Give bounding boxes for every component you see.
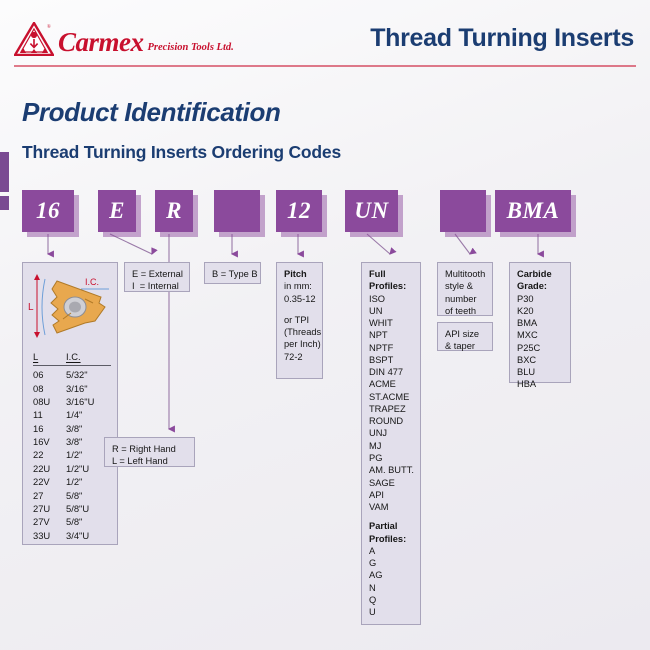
full-profile-item: VAM [369,501,414,513]
size-cell-ic: 5/8" [66,515,82,528]
size-cell-l: 16V [33,435,66,448]
carbide-grade-box: Carbide Grade: P30K20BMAMXCP25CBXCBLUHBA [509,262,571,383]
full-profiles-list: ISOUNWHITNPTNPTFBSPTDIN 477ACMEST.ACMETR… [369,293,414,514]
partial-profile-item: G [369,557,414,569]
code-box-profile[interactable]: UN [345,190,398,232]
carbide-grade-item: HBA [517,378,564,390]
size-cell-l: 08 [33,382,66,395]
carbide-grade-item: MXC [517,329,564,341]
size-cell-l: 06 [33,368,66,381]
hand-line-left: L = Left Hand [112,455,188,467]
section-title: Product Identification [22,97,280,128]
size-cell-ic: 1/2"U [66,462,89,475]
size-table: L I.C. 065/32"083/16"08U3/16"U111/4"163/… [23,351,117,542]
grade-title-1: Carbide [517,269,552,279]
partial-profile-item: Q [369,594,414,606]
size-cell-l: 16 [33,422,66,435]
size-col-ic: I.C. [66,351,81,363]
full-profile-item: AM. BUTT. [369,464,414,476]
api-line-2: & taper [445,340,486,352]
carmex-triangle-logo-icon: ® [14,22,54,56]
page-root: ® Carmex Precision Tools Ltd. Thread Tur… [0,0,650,650]
code-box-size[interactable]: 16 [22,190,74,232]
partial-profiles-title-2: Profiles: [369,534,406,544]
size-table-row: 33U3/4"U [33,529,117,542]
svg-text:®: ® [47,24,51,30]
partial-profile-item: N [369,582,414,594]
size-cell-ic: 1/2" [66,475,82,488]
hand-direction-box: R = Right Hand L = Left Hand [104,437,195,467]
full-profile-item: SAGE [369,477,414,489]
size-table-rule [33,365,111,366]
size-cell-ic: 1/4" [66,408,82,421]
size-table-row: 27U5/8"U [33,502,117,515]
size-col-l: L [33,351,66,363]
full-profile-item: PG [369,452,414,464]
full-profile-item: BSPT [369,354,414,366]
size-cell-ic: 3/8" [66,435,82,448]
size-table-row: 275/8" [33,489,117,502]
api-size-box: API size & taper [437,322,493,351]
grade-title-2: Grade: [517,281,547,291]
partial-profile-item: U [369,606,414,618]
page-title: Thread Turning Inserts [370,24,634,53]
partial-profiles-list: AGAGNQU [369,545,414,619]
size-cell-ic: 5/32" [66,368,88,381]
ei-line-internal: I = Internal [132,280,183,292]
size-cell-ic: 5/8"U [66,502,89,515]
carbide-grade-item: BXC [517,354,564,366]
partial-profile-item: AG [369,569,414,581]
size-cell-ic: 3/8" [66,422,82,435]
api-line-1: API size [445,328,486,340]
code-box-grade[interactable]: BMA [495,190,571,232]
page-header: ® Carmex Precision Tools Ltd. Thread Tur… [0,0,650,72]
carbide-grade-item: BLU [517,366,564,378]
size-cell-ic: 3/16"U [66,395,94,408]
size-table-row: 08U3/16"U [33,395,117,408]
thread-profiles-box: Full Profiles: ISOUNWHITNPTNPTFBSPTDIN 4… [361,262,421,625]
carbide-grade-item: K20 [517,305,564,317]
size-cell-l: 11 [33,408,66,421]
full-profile-item: ROUND [369,415,414,427]
pitch-tpi-note1: (Threads [284,326,316,338]
insert-size-box: L I.C. L I.C. 065/32"083/16"08U3/16"U111… [22,262,118,545]
insert-illustration: L I.C. [23,263,119,351]
size-table-row: 22V1/2" [33,475,117,488]
pitch-spacer [284,305,316,314]
size-cell-ic: 5/8" [66,489,82,502]
carbide-grade-item: P25C [517,342,564,354]
insert-type-box: B = Type B [204,262,261,284]
code-box-hand[interactable]: R [155,190,193,232]
size-table-row: 163/8" [33,422,117,435]
full-profile-item: UNJ [369,427,414,439]
size-table-header: L I.C. [33,351,117,364]
size-cell-l: 27U [33,502,66,515]
full-profile-item: DIN 477 [369,366,414,378]
code-box-direction[interactable]: E [98,190,136,232]
pitch-tpi-label: or TPI [284,314,316,326]
brand-name: Carmex [58,29,144,56]
multitooth-box: Multitooth style & number of teeth [437,262,493,316]
size-cell-l: 22V [33,475,66,488]
pitch-mm-range: 0.35-12 [284,293,316,305]
type-line: B = Type B [212,268,254,280]
multitooth-line-1: Multitooth [445,268,486,280]
pitch-tpi-note2: per Inch) [284,338,316,350]
size-table-row: 27V5/8" [33,515,117,528]
carbide-grade-item: P30 [517,293,564,305]
full-profile-item: ISO [369,293,414,305]
full-profile-item: UN [369,305,414,317]
full-profile-item: API [369,489,414,501]
size-cell-l: 08U [33,395,66,408]
code-box-multitooth[interactable] [440,190,486,232]
left-accent-strip-bottom [0,196,9,210]
size-cell-l: 27V [33,515,66,528]
full-profile-item: WHIT [369,317,414,329]
size-cell-l: 27 [33,489,66,502]
size-cell-l: 22U [33,462,66,475]
external-internal-box: E = External I = Internal [124,262,190,292]
size-cell-ic: 1/2" [66,448,82,461]
code-box-type[interactable] [214,190,260,232]
pitch-title: Pitch [284,269,307,279]
full-profile-item: TRAPEZ [369,403,414,415]
size-table-row: 083/16" [33,382,117,395]
section-subtitle: Thread Turning Inserts Ordering Codes [22,142,341,163]
left-accent-strip-top [0,152,9,192]
multitooth-line-2: style & [445,280,486,292]
size-table-row: 111/4" [33,408,117,421]
ei-line-external: E = External [132,268,183,280]
multitooth-line-4: of teeth [445,305,486,317]
full-profile-item: ST.ACME [369,391,414,403]
profiles-spacer [369,513,414,520]
full-profile-item: NPT [369,329,414,341]
size-cell-ic: 3/4"U [66,529,89,542]
carbide-grade-list: P30K20BMAMXCP25CBXCBLUHBA [517,293,564,391]
full-profile-item: ACME [369,378,414,390]
size-table-row: 065/32" [33,368,117,381]
multitooth-line-3: number [445,293,486,305]
pitch-tpi-range: 72-2 [284,351,316,363]
pitch-box: Pitch in mm: 0.35-12 or TPI (Threads per… [276,262,323,379]
full-profile-item: MJ [369,440,414,452]
pitch-mm-label: in mm: [284,280,316,292]
svg-text:L: L [28,302,34,313]
partial-profile-item: A [369,545,414,557]
full-profiles-title-2: Profiles: [369,281,406,291]
full-profiles-title-1: Full [369,269,386,279]
size-cell-ic: 3/16" [66,382,88,395]
carbide-grade-item: BMA [517,317,564,329]
partial-profiles-title-1: Partial [369,521,397,531]
brand-logo: ® Carmex Precision Tools Ltd. [14,22,234,56]
size-cell-l: 33U [33,529,66,542]
brand-tagline: Precision Tools Ltd. [148,43,234,57]
full-profile-item: NPTF [369,342,414,354]
svg-text:I.C.: I.C. [85,277,99,287]
size-cell-l: 22 [33,448,66,461]
code-box-pitch[interactable]: 12 [276,190,322,232]
hand-line-right: R = Right Hand [112,443,188,455]
header-divider [14,65,636,67]
